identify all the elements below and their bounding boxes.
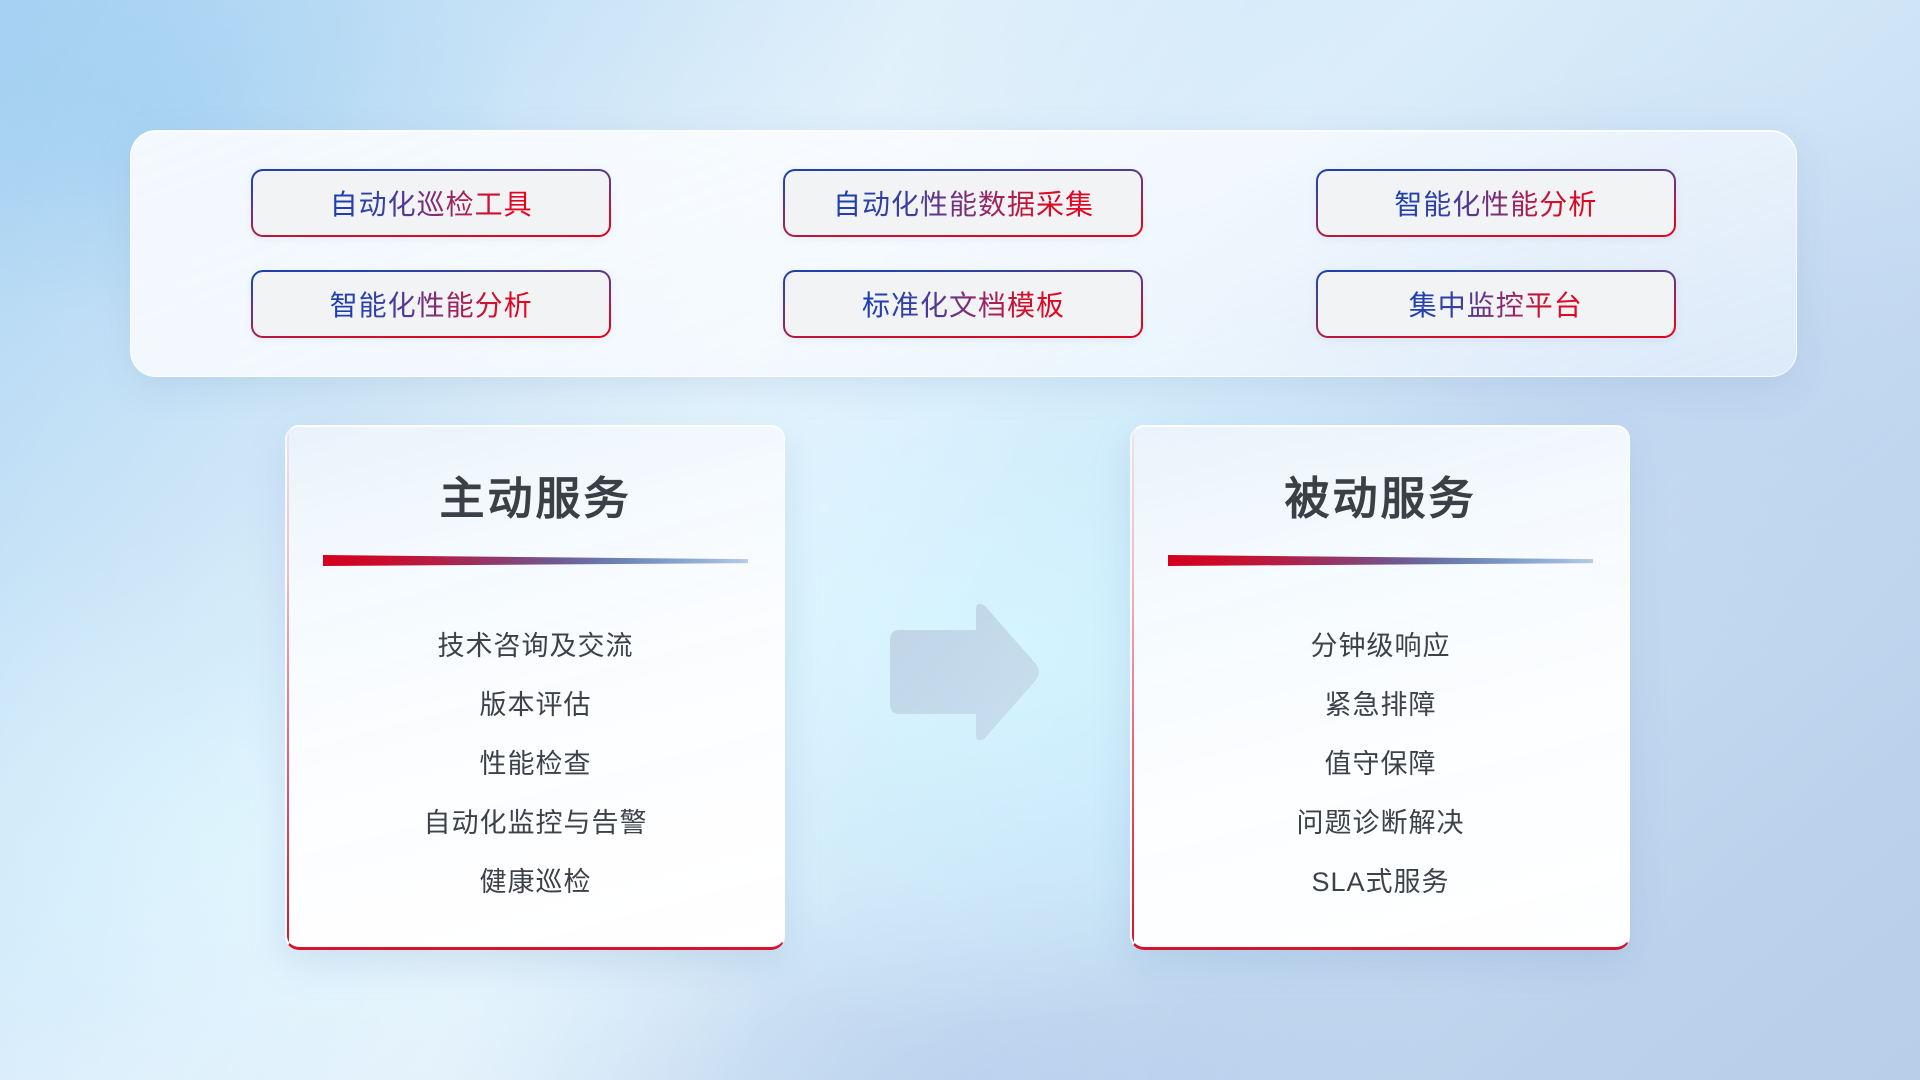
capability-pill-label: 标准化文档模板 — [862, 284, 1065, 324]
capability-pill[interactable]: 智能化性能分析 — [1316, 169, 1676, 237]
capability-pill-label: 自动化性能数据采集 — [833, 183, 1094, 223]
capability-pill[interactable]: 集中监控平台 — [1316, 270, 1676, 338]
list-item: 性能检查 — [287, 735, 784, 794]
card-title: 主动服务 — [287, 426, 784, 527]
list-item: 分钟级响应 — [1132, 617, 1629, 676]
card-title-divider — [323, 549, 748, 575]
capabilities-panel: 自动化巡检工具 自动化性能数据采集 智能化性能分析 智能化性能分析 标准化文档模… — [130, 130, 1797, 377]
service-card-reactive: 被动服务 分钟级响应 紧急排障 值守保障 问题诊断解决 SLA式服务 — [1130, 425, 1630, 950]
capability-pill-label: 智能化性能分析 — [1394, 183, 1597, 223]
capability-pill-label: 智能化性能分析 — [330, 284, 533, 324]
list-item: 问题诊断解决 — [1132, 794, 1629, 853]
card-title-divider — [1168, 549, 1593, 575]
capability-pill-label: 集中监控平台 — [1409, 284, 1583, 324]
capability-pill[interactable]: 智能化性能分析 — [251, 270, 611, 338]
service-item-list: 技术咨询及交流 版本评估 性能检查 自动化监控与告警 健康巡检 — [287, 575, 784, 912]
service-card-proactive: 主动服务 技术咨询及交流 版本评估 性能检查 自动化监控与告警 健康巡检 — [285, 425, 785, 950]
list-item: 健康巡检 — [287, 853, 784, 912]
capability-pill-grid: 自动化巡检工具 自动化性能数据采集 智能化性能分析 智能化性能分析 标准化文档模… — [131, 131, 1796, 376]
list-item: SLA式服务 — [1132, 853, 1629, 912]
list-item: 值守保障 — [1132, 735, 1629, 794]
gradient-underline — [323, 555, 748, 566]
gradient-underline — [1168, 555, 1593, 566]
capability-pill-label: 自动化巡检工具 — [330, 183, 533, 223]
arrow-right-icon — [880, 598, 1042, 746]
list-item: 版本评估 — [287, 676, 784, 735]
capability-pill[interactable]: 自动化巡检工具 — [251, 169, 611, 237]
list-item: 技术咨询及交流 — [287, 617, 784, 676]
list-item: 自动化监控与告警 — [287, 794, 784, 853]
list-item: 紧急排障 — [1132, 676, 1629, 735]
capability-pill[interactable]: 标准化文档模板 — [783, 270, 1143, 338]
card-title: 被动服务 — [1132, 426, 1629, 527]
service-item-list: 分钟级响应 紧急排障 值守保障 问题诊断解决 SLA式服务 — [1132, 575, 1629, 912]
capability-pill[interactable]: 自动化性能数据采集 — [783, 169, 1143, 237]
